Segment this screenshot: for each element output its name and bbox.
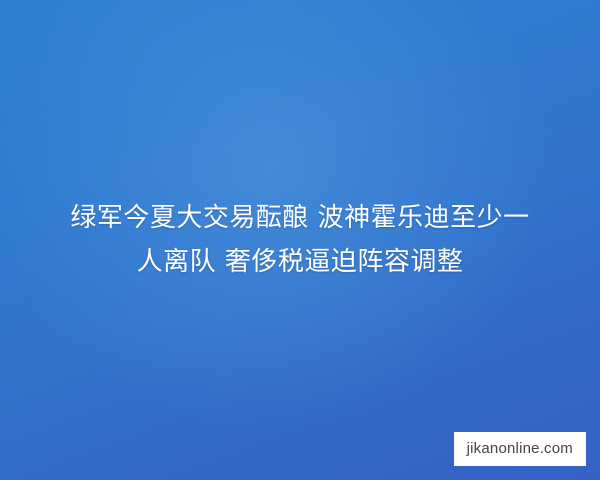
headline-text: 绿军今夏大交易酝酿 波神霍乐迪至少一 人离队 奢侈税逼迫阵容调整	[0, 196, 600, 284]
watermark-badge: jikanonline.com	[454, 432, 586, 466]
image-canvas: 绿军今夏大交易酝酿 波神霍乐迪至少一 人离队 奢侈税逼迫阵容调整 jikanon…	[0, 0, 600, 480]
